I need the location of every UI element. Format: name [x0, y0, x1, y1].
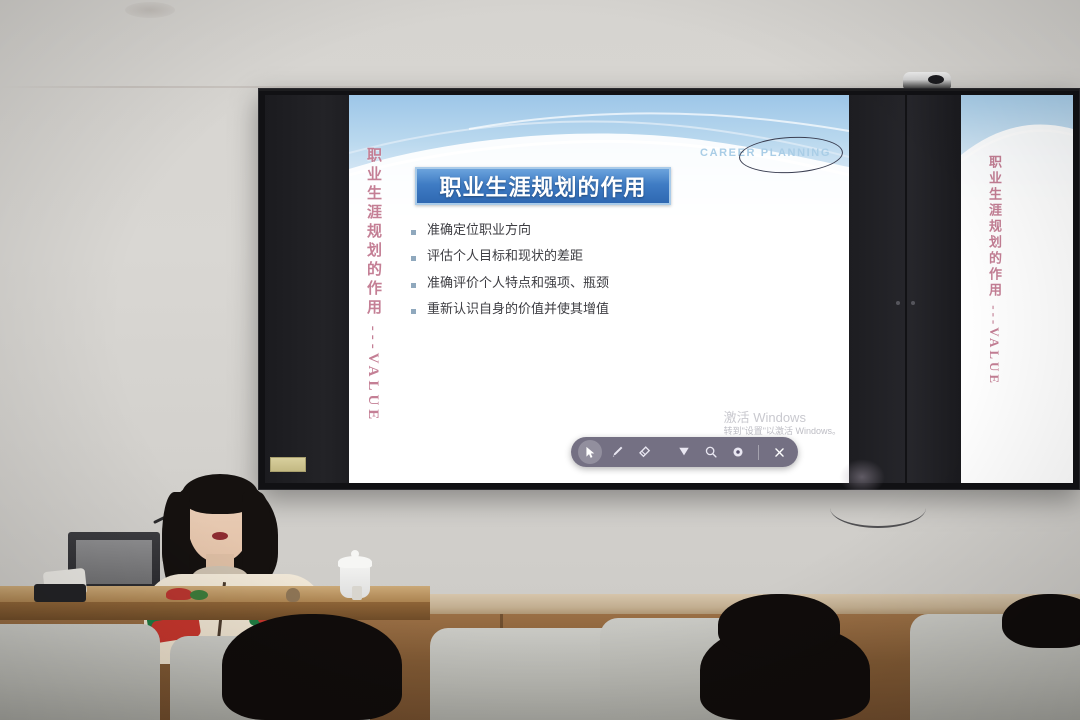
- slide-bullet-list: 准确定位职业方向 评估个人目标和现状的差距 准确评价个人特点和强项、瓶颈 重新认…: [411, 223, 811, 328]
- desk-object-brown: [286, 588, 300, 602]
- annotation-toolbar[interactable]: [571, 437, 798, 467]
- pen-tool-button[interactable]: [605, 440, 629, 464]
- audience-head: [718, 594, 840, 658]
- ceiling-fixture: [125, 2, 175, 18]
- board-inner-frame: 职业生涯规划的作用 ---VALUE CAREER PLANNING 职业生涯规…: [265, 95, 1073, 483]
- desk-equipment-box: [34, 584, 86, 602]
- secondary-swoosh-decoration: [961, 95, 1073, 205]
- bullet-marker-icon: [411, 283, 416, 288]
- watermark-line-1: 激活 Windows: [724, 410, 841, 426]
- secondary-vertical-title: 职业生涯规划的作用 ---VALUE: [985, 155, 1004, 386]
- cursor-icon: [584, 446, 597, 459]
- panel-dot: [911, 301, 915, 305]
- cursor-tool-button[interactable]: [578, 440, 602, 464]
- audience-chair: [0, 624, 160, 720]
- board-side-panel-middle: [849, 95, 961, 483]
- bullet-marker-icon: [411, 309, 416, 314]
- magnifier-icon: [704, 445, 718, 459]
- close-icon: [773, 446, 786, 459]
- toolbar-divider: [758, 445, 759, 460]
- magnifier-tool-button[interactable]: [699, 440, 723, 464]
- bullet-text: 评估个人目标和现状的差距: [427, 249, 583, 265]
- slide-title-banner: 职业生涯规划的作用: [415, 167, 671, 205]
- audience-head: [222, 614, 402, 720]
- presenter-lips: [212, 532, 228, 540]
- slide-title-text: 职业生涯规划的作用: [439, 170, 646, 202]
- secondary-screen[interactable]: 职业生涯规划的作用 ---VALUE: [961, 95, 1073, 483]
- shape-tool-button[interactable]: [672, 440, 696, 464]
- board-camera-icon: [903, 72, 951, 89]
- list-item: 评估个人目标和现状的差距: [411, 249, 811, 265]
- bullet-text: 准确评价个人特点和强项、瓶颈: [427, 276, 609, 292]
- cup-knob: [351, 550, 359, 558]
- board-side-panel-left: [265, 95, 349, 483]
- smart-board[interactable]: 职业生涯规划的作用 ---VALUE CAREER PLANNING 职业生涯规…: [258, 88, 1080, 490]
- shape-icon: [677, 445, 691, 459]
- slide-vertical-title-left: 职业生涯规划的作用 ---VALUE: [363, 147, 384, 423]
- pen-icon: [610, 445, 624, 459]
- presenter-desk-front: [0, 602, 430, 620]
- bullet-marker-icon: [411, 256, 416, 261]
- bullet-text: 准确定位职业方向: [427, 223, 531, 239]
- audience-head: [1002, 594, 1080, 648]
- bullet-text: 重新认识自身的价值并使其增值: [427, 302, 609, 318]
- presentation-slide[interactable]: 职业生涯规划的作用 ---VALUE CAREER PLANNING 职业生涯规…: [349, 95, 849, 483]
- eraser-tool-button[interactable]: [632, 440, 656, 464]
- bullet-marker-icon: [411, 230, 416, 235]
- lecture-room: 职业生涯规划的作用 ---VALUE CAREER PLANNING 职业生涯规…: [0, 0, 1080, 720]
- windows-activation-watermark: 激活 Windows 转到"设置"以激活 Windows。: [724, 410, 841, 438]
- desk-object-white: [352, 586, 362, 600]
- list-item: 准确评价个人特点和强项、瓶颈: [411, 276, 811, 292]
- more-tool-button[interactable]: [726, 440, 750, 464]
- board-cable: [830, 488, 926, 528]
- circle-icon: [731, 445, 745, 459]
- watermark-line-2: 转到"设置"以激活 Windows。: [724, 426, 841, 437]
- desk-object-green: [190, 590, 208, 600]
- desk-object-red: [166, 588, 192, 600]
- close-toolbar-button[interactable]: [767, 440, 791, 464]
- list-item: 准确定位职业方向: [411, 223, 811, 239]
- eraser-icon: [637, 445, 651, 459]
- list-item: 重新认识自身的价值并使其增值: [411, 302, 811, 318]
- panel-dot: [896, 301, 900, 305]
